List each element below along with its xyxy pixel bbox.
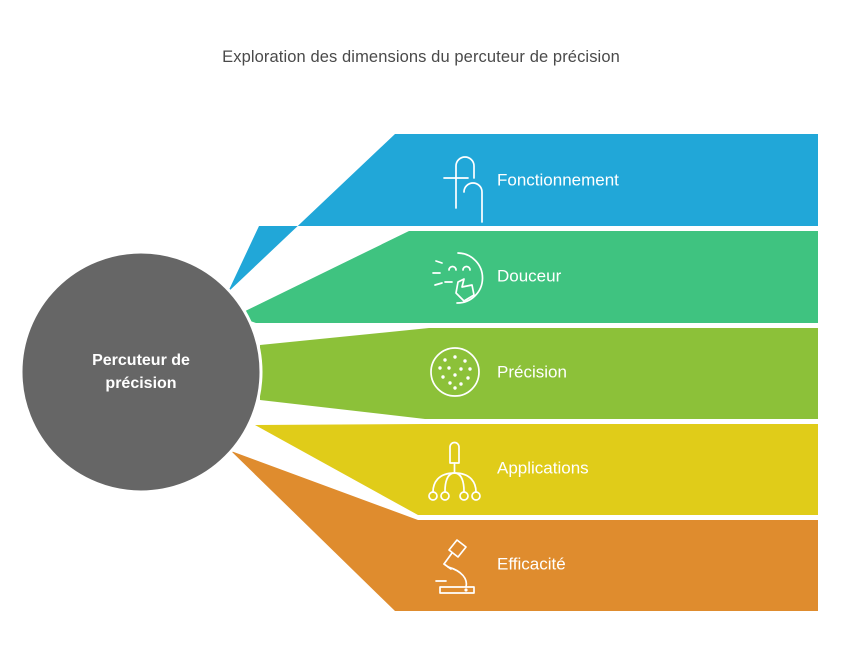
center-node-label-line1: Percuteur de [92, 352, 190, 369]
branch-label-5: Efficacité [497, 554, 566, 573]
branch-label-2: Douceur [497, 266, 562, 285]
center-node-label-line2: précision [105, 375, 176, 392]
branch-group-2[interactable]: Douceur [235, 231, 818, 323]
branch-label-1: Fonctionnement [497, 170, 619, 189]
diagram-root: Exploration des dimensions du percuteur … [0, 0, 842, 662]
diagram-canvas: Fonctionnement Douceur [0, 0, 842, 662]
branch-group-3[interactable]: Précision [260, 328, 818, 419]
branch-label-3: Précision [497, 362, 567, 381]
center-node[interactable]: Percuteur de précision [21, 252, 261, 492]
center-node-circle[interactable] [21, 252, 261, 492]
branch-label-4: Applications [497, 458, 589, 477]
